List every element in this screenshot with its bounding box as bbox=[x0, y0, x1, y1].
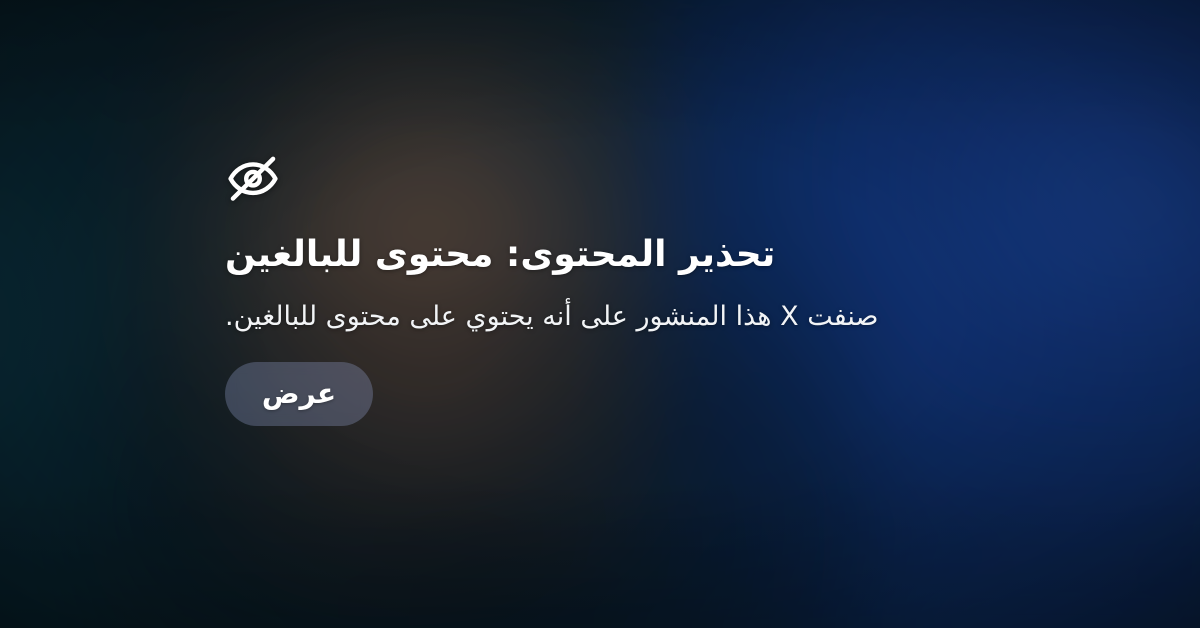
eye-off-icon bbox=[225, 150, 281, 206]
sensitive-content-overlay: تحذير المحتوى: محتوى للبالغين صنفت X هذا… bbox=[0, 0, 1200, 628]
warning-description: صنفت X هذا المنشور على أنه يحتوي على محت… bbox=[225, 297, 878, 336]
warning-title: تحذير المحتوى: محتوى للبالغين bbox=[225, 232, 775, 277]
warning-panel: تحذير المحتوى: محتوى للبالغين صنفت X هذا… bbox=[225, 150, 975, 426]
view-button[interactable]: عرض bbox=[225, 362, 373, 426]
